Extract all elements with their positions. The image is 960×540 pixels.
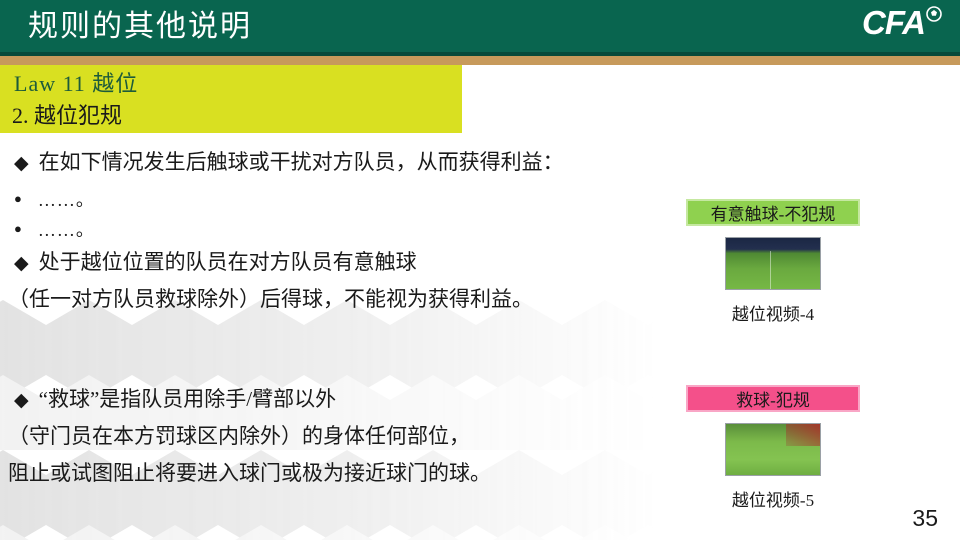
list-item-text: ……。 — [38, 220, 95, 240]
round-bullet-icon: ● — [14, 191, 22, 206]
list-item: ●……。 — [14, 186, 95, 212]
status-badge-foul: 救球-犯规 — [686, 385, 860, 412]
soccer-ball-icon — [926, 6, 942, 22]
status-badge-legal: 有意触球-不犯规 — [686, 199, 860, 226]
video-thumbnail[interactable] — [725, 237, 821, 290]
round-bullet-icon: ● — [14, 221, 22, 236]
header-gold-divider — [0, 56, 960, 65]
cfa-logo-text: CFA — [862, 5, 925, 41]
law-subtitle: 2. 越位犯规 — [12, 98, 122, 130]
paragraph-2-text: 处于越位位置的队员在对方队员有意触球 — [39, 250, 417, 274]
diamond-bullet-icon: ◆ — [14, 153, 29, 174]
video-caption: 越位视频-4 — [686, 300, 860, 325]
paragraph-3-line-3: 阻止或试图阻止将要进入球门或极为接近球门的球。 — [8, 457, 491, 487]
paragraph-1: ◆在如下情况发生后触球或干扰对方队员，从而获得利益： — [14, 146, 564, 176]
list-item-text: ……。 — [38, 190, 95, 210]
paragraph-2-line-2: （任一对方队员救球除外）后得球，不能视为获得利益。 — [8, 283, 533, 313]
video-caption: 越位视频-5 — [686, 486, 860, 511]
page-title: 规则的其他说明 — [28, 4, 252, 50]
paragraph-3-line-1: ◆“救球”是指队员用除手/臂部以外 — [14, 383, 336, 413]
list-item: ●……。 — [14, 216, 95, 242]
video-panel-offside-4: 有意触球-不犯规 越位视频-4 — [686, 199, 860, 325]
diamond-bullet-icon: ◆ — [14, 253, 29, 274]
video-panel-offside-5: 救球-犯规 越位视频-5 — [686, 385, 860, 511]
paragraph-2-line-1: ◆处于越位位置的队员在对方队员有意触球 — [14, 246, 417, 276]
video-thumbnail[interactable] — [725, 423, 821, 476]
paragraph-3-text: “救球”是指队员用除手/臂部以外 — [39, 387, 336, 411]
diamond-bullet-icon: ◆ — [14, 390, 29, 411]
paragraph-1-text: 在如下情况发生后触球或干扰对方队员，从而获得利益： — [39, 150, 564, 174]
page-number: 35 — [912, 505, 938, 532]
paragraph-3-line-2: （守门员在本方罚球区内除外）的身体任何部位， — [8, 420, 470, 450]
law-title: Law 11 越位 — [14, 66, 138, 98]
cfa-logo: CFA — [862, 5, 942, 41]
slide: 规则的其他说明 CFA Law 11 越位 2. 越位犯规 ◆在如下情况发生后触… — [0, 0, 960, 540]
